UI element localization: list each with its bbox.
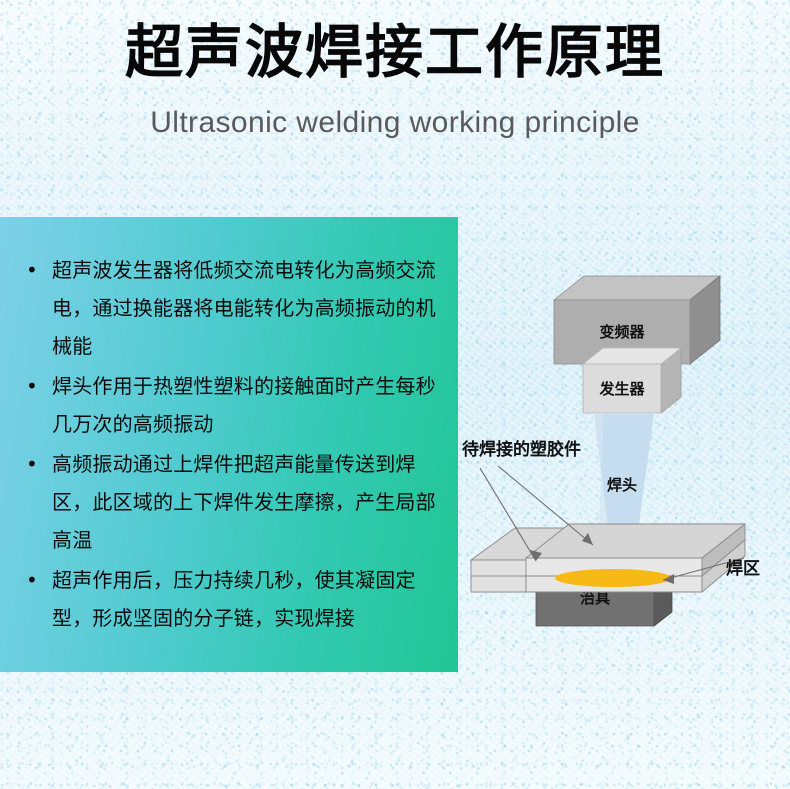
list-item-text: 焊头作用于热塑性塑料的接触面时产生每秒几万次的高频振动: [52, 374, 436, 436]
title-block: 超声波焊接工作原理 Ultrasonic welding working pri…: [0, 18, 790, 140]
list-item: • 超声作用后，压力持续几秒，使其凝固定型，形成坚固的分子链，实现焊接: [18, 561, 442, 637]
bullet-marker-icon: •: [26, 561, 38, 599]
bullet-marker-icon: •: [26, 445, 38, 483]
bullet-marker-icon: •: [26, 251, 38, 289]
generator-box: 发生器: [583, 348, 681, 413]
generator-label: 发生器: [598, 380, 645, 398]
horn-label: 焊头: [607, 476, 637, 494]
bullet-marker-icon: •: [26, 367, 38, 405]
weld-zone-spot-front: [555, 569, 671, 587]
list-item: • 超声波发生器将低频交流电转化为高频交流电，通过换能器将电能转化为高频振动的机…: [18, 251, 442, 365]
poster-root: 超声波焊接工作原理 Ultrasonic welding working pri…: [0, 0, 790, 789]
page-subtitle: Ultrasonic welding working principle: [0, 106, 790, 140]
plastic-parts-label: 待焊接的塑胶件: [462, 439, 581, 460]
page-title: 超声波焊接工作原理: [0, 18, 790, 86]
ultrasonic-welder-diagram: 变频器 发生器 焊头: [458, 240, 790, 640]
converter-label: 变频器: [599, 323, 645, 341]
list-item: • 焊头作用于热塑性塑料的接触面时产生每秒几万次的高频振动: [18, 367, 442, 443]
list-item-text: 超声波发生器将低频交流电转化为高频交流电，通过换能器将电能转化为高频振动的机械能: [52, 258, 436, 358]
list-item: • 高频振动通过上焊件把超声能量传送到焊区，此区域的上下焊件发生摩擦，产生局部高…: [18, 445, 442, 559]
list-item-text: 高频振动通过上焊件把超声能量传送到焊区，此区域的上下焊件发生摩擦，产生局部高温: [52, 452, 436, 552]
bullet-list: • 超声波发生器将低频交流电转化为高频交流电，通过换能器将电能转化为高频振动的机…: [0, 217, 458, 637]
bullet-panel: • 超声波发生器将低频交流电转化为高频交流电，通过换能器将电能转化为高频振动的机…: [0, 217, 458, 672]
weld-zone-label: 焊区: [726, 559, 760, 579]
list-item-text: 超声作用后，压力持续几秒，使其凝固定型，形成坚固的分子链，实现焊接: [52, 568, 416, 630]
